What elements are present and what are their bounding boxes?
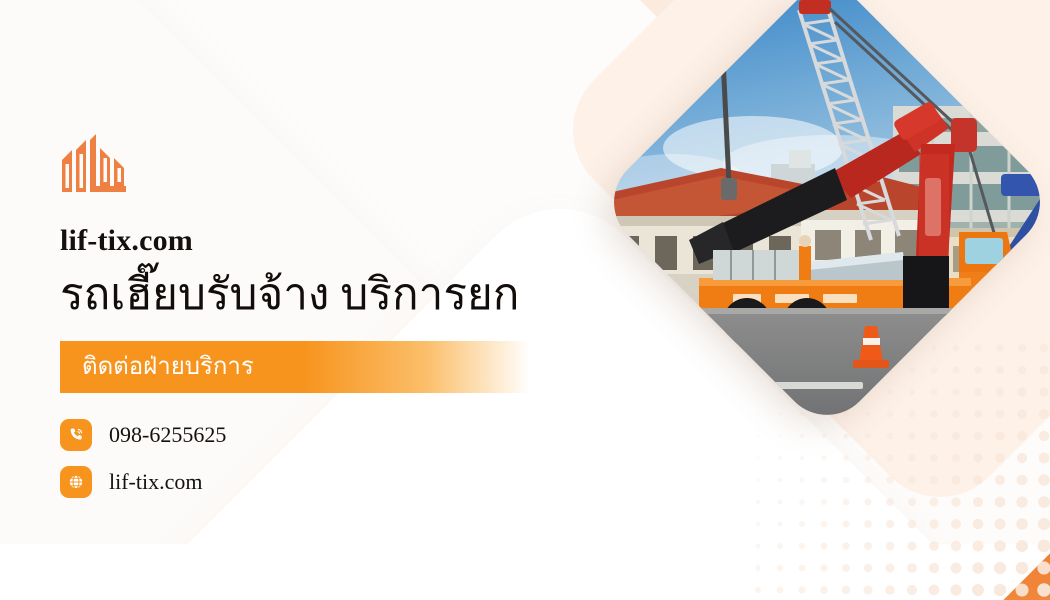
- building-logo-icon: [60, 128, 132, 200]
- headline: รถเฮี๊ยบรับจ้าง บริการยก: [60, 270, 680, 321]
- contact-row-phone[interactable]: 098-6255625: [60, 419, 680, 451]
- contact-service-cta[interactable]: ติดต่อฝ่ายบริการ: [60, 341, 530, 393]
- website-url: lif-tix.com: [109, 471, 202, 493]
- globe-icon: [60, 466, 92, 498]
- contact-row-website[interactable]: lif-tix.com: [60, 466, 680, 498]
- decor-bottom-band: [0, 544, 1050, 600]
- phone-icon: [60, 419, 92, 451]
- promo-banner: lif-tix.com รถเฮี๊ยบรับจ้าง บริการยก ติด…: [0, 0, 1050, 600]
- phone-number: 098-6255625: [109, 424, 226, 446]
- cta-label: ติดต่อฝ่ายบริการ: [60, 355, 254, 379]
- contact-list: 098-6255625 lif-tix.com: [60, 419, 680, 498]
- content-column: lif-tix.com รถเฮี๊ยบรับจ้าง บริการยก ติด…: [60, 128, 680, 498]
- brand-name: lif-tix.com: [60, 226, 680, 256]
